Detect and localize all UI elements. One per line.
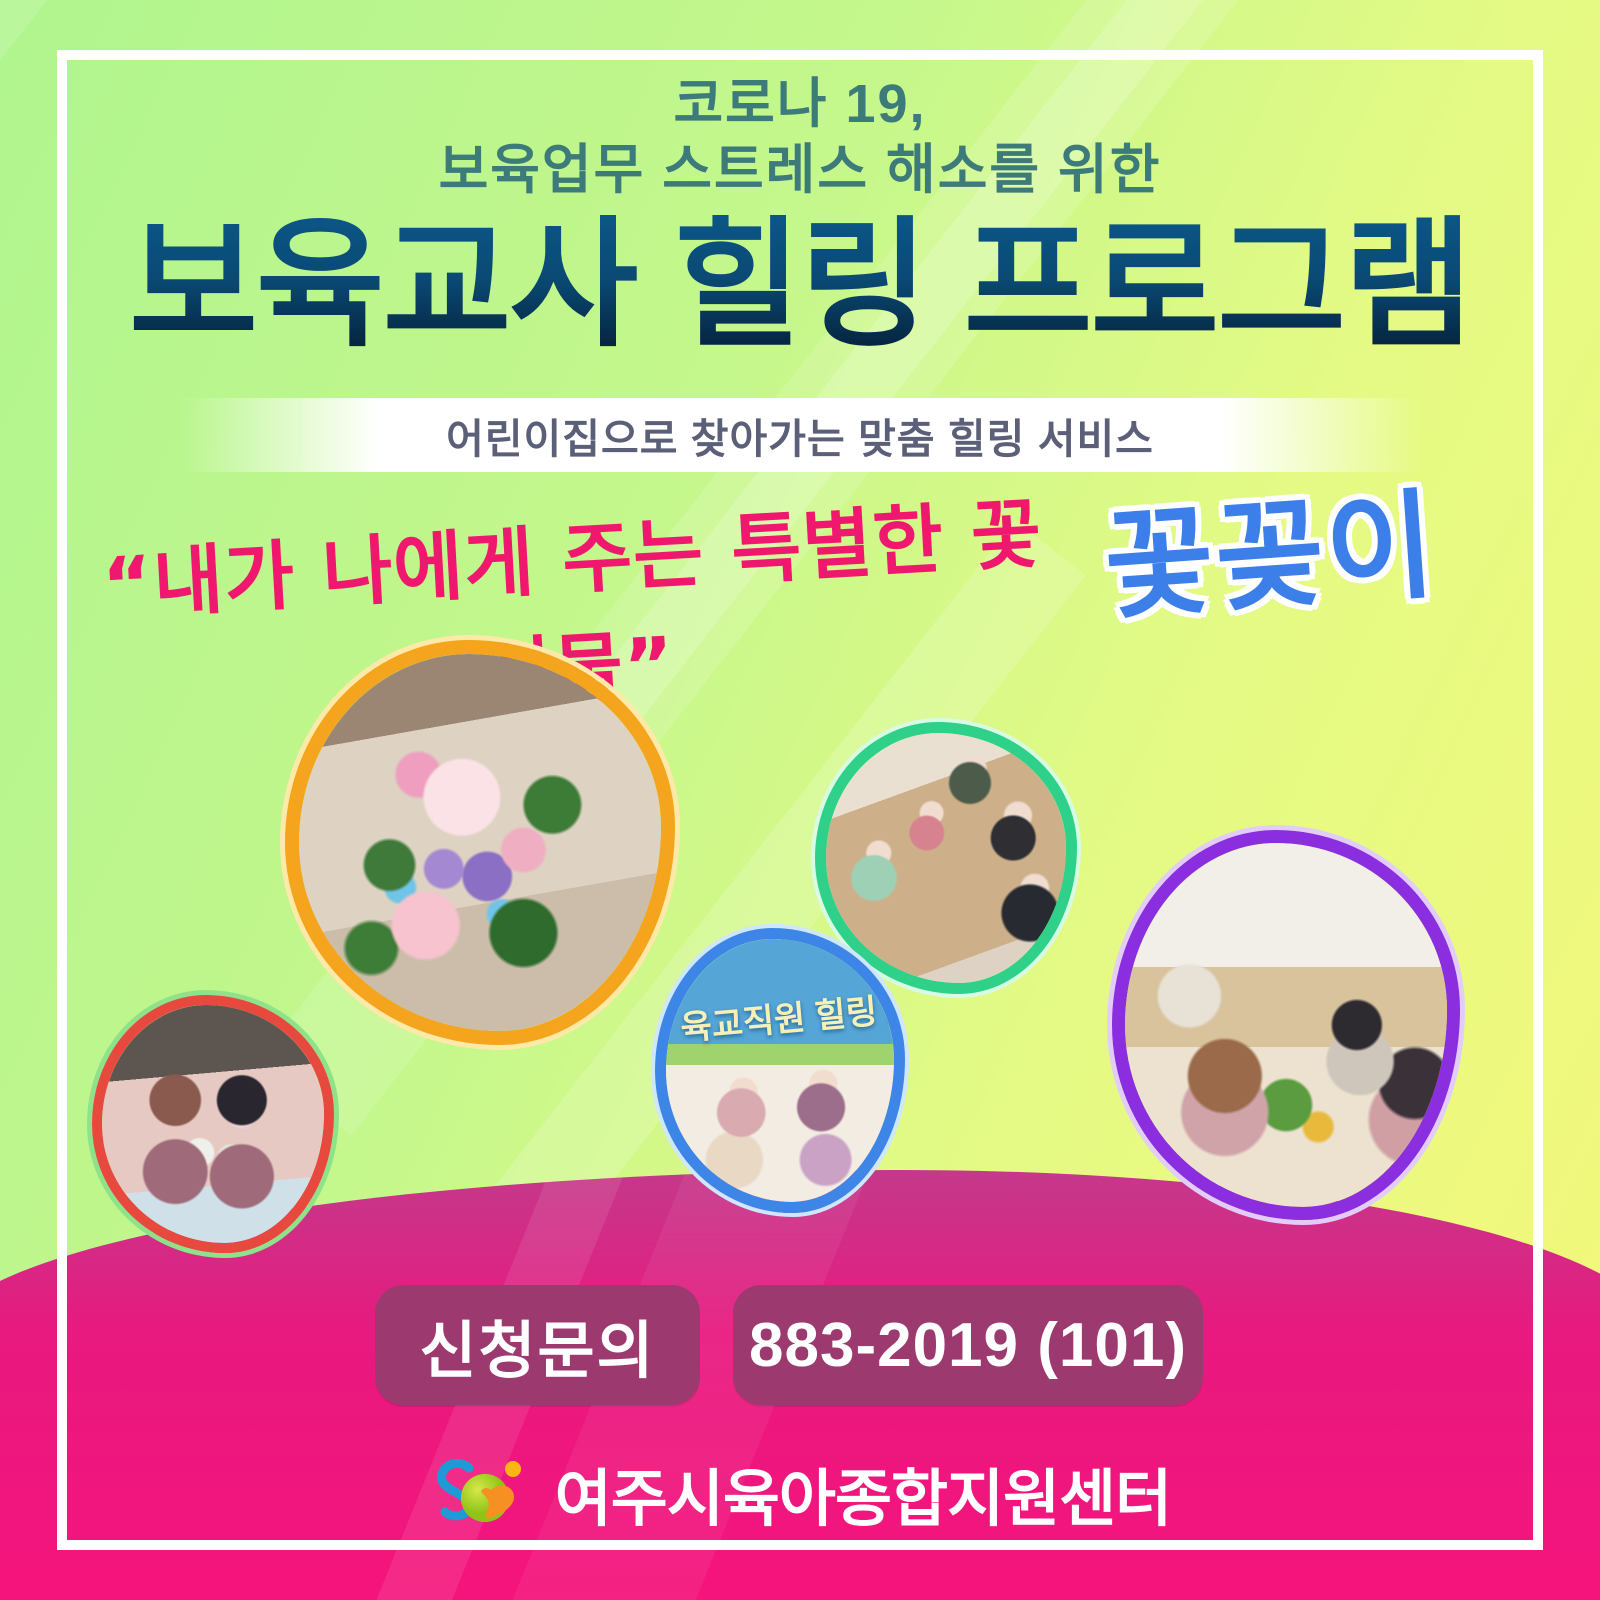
classroom-photo-image — [1125, 843, 1447, 1207]
pair-photo-image — [102, 1005, 324, 1243]
bouquet-photo-image — [299, 654, 661, 1031]
banner-photo-caption: 육교직원 힐링 프로그 — [678, 983, 882, 1049]
contact-phone-pill[interactable]: 883-2019 (101) — [733, 1285, 1203, 1405]
contact-label-pill: 신청문의 — [375, 1285, 700, 1405]
eyebrow-text: 코로나 19, 보육업무 스트레스 해소를 위한 — [0, 72, 1600, 204]
bouquet-photo — [285, 640, 675, 1045]
pair-photo — [92, 995, 334, 1253]
handwritten-activity: 꽃꽂이 — [1065, 446, 1476, 644]
classroom-photo — [1112, 830, 1460, 1220]
footer: 여주시육아종합지원센터 — [0, 1448, 1600, 1538]
page-title: 보육교사 힐링 프로그램 — [0, 215, 1600, 355]
center-logo-icon — [429, 1456, 541, 1530]
organization-name: 여주시육아종합지원센터 — [555, 1448, 1171, 1538]
banner-photo: 육교직원 힐링 프로그 — [655, 928, 905, 1213]
banner-photo-image: 육교직원 힐링 프로그 — [666, 939, 894, 1202]
poster-canvas: 코로나 19, 보육업무 스트레스 해소를 위한 보육교사 힐링 프로그램 어린… — [0, 0, 1600, 1600]
